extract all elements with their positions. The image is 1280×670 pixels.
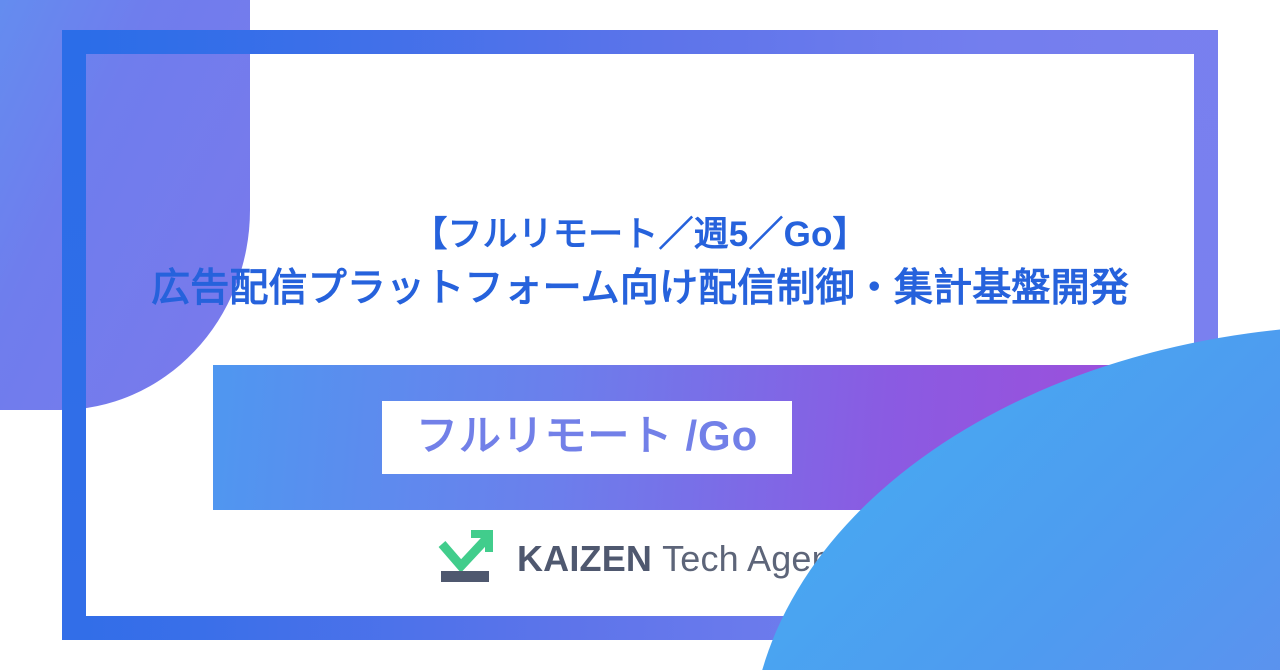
tag-label-box: フルリモート /Go bbox=[382, 401, 792, 474]
brand-suffix: Tech Agent bbox=[662, 538, 842, 580]
job-card-canvas: 【フルリモート／週5／Go】 広告配信プラットフォーム向け配信制御・集計基盤開発… bbox=[0, 0, 1280, 670]
title-line-2: 広告配信プラットフォーム向け配信制御・集計基盤開発 bbox=[151, 263, 1129, 314]
growth-arrow-icon bbox=[438, 524, 500, 584]
tag-label: フルリモート /Go bbox=[416, 412, 758, 459]
tag-banner: フルリモート /Go bbox=[213, 365, 1116, 510]
card-content: 【フルリモート／週5／Go】 広告配信プラットフォーム向け配信制御・集計基盤開発… bbox=[0, 0, 1280, 670]
brand-name: KAIZEN bbox=[517, 538, 652, 580]
brand-logo: KAIZEN Tech Agent bbox=[0, 524, 1280, 584]
page-title: 【フルリモート／週5／Go】 広告配信プラットフォーム向け配信制御・集計基盤開発 bbox=[151, 212, 1129, 315]
brand-wordmark: KAIZEN Tech Agent bbox=[517, 538, 842, 584]
title-line-1: 【フルリモート／週5／Go】 bbox=[151, 212, 1129, 258]
